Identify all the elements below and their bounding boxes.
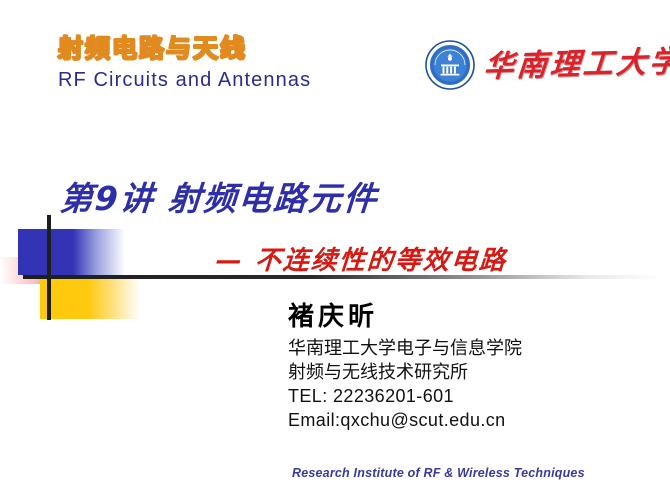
presenter-affiliation-institute: 射频与无线技术研究所 — [288, 361, 618, 385]
decor-yellow-gradient — [88, 275, 140, 319]
presenter-email: Email:qxchu@scut.edu.cn — [288, 409, 618, 433]
decor-vertical-line — [47, 215, 51, 320]
course-title-english: RF Circuits and Antennas — [58, 69, 418, 92]
university-name-chinese: 华南理工大学 — [483, 47, 670, 82]
presenter-info: 褚庆昕 华南理工大学电子与信息学院 射频与无线技术研究所 TEL: 222362… — [288, 303, 618, 433]
lecture-subtitle: — 不连续性的等效电路 — [215, 240, 509, 277]
presenter-telephone: TEL: 22236201-601 — [288, 385, 618, 409]
course-title-chinese: 射频电路与天线 — [58, 36, 418, 62]
presenter-name: 褚庆昕 — [288, 303, 618, 333]
decorative-motif — [0, 215, 200, 320]
presenter-affiliation-college: 华南理工大学电子与信息学院 — [288, 337, 618, 361]
lecture-title: 第9讲 射频电路元件 — [58, 172, 380, 220]
decor-blue-gradient — [73, 229, 125, 275]
scut-seal-icon — [424, 39, 476, 91]
decor-blue-square — [18, 229, 73, 275]
presentation-slide: 射频电路与天线 RF Circuits and Antennas 华南理工大学 — [0, 0, 670, 503]
course-header: 射频电路与天线 RF Circuits and Antennas — [58, 36, 418, 92]
horizontal-divider — [23, 275, 663, 279]
university-logo: 华南理工大学 — [424, 33, 658, 97]
footer-institute-name: Research Institute of RF & Wireless Tech… — [292, 466, 585, 480]
